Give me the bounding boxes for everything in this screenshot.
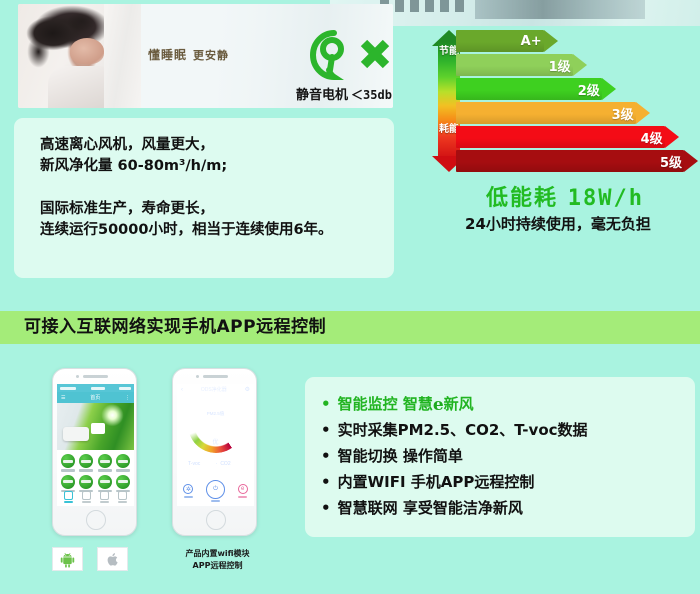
- spec-card: 高速离心风机，风量更大， 新风净化量 60-80m³/h/m; 国际标准生产，寿…: [14, 118, 394, 278]
- energy-efficiency-chart: 节能 耗能 A+1级2级3级4级5级: [420, 24, 698, 174]
- bullet-icon: •: [321, 495, 331, 521]
- phone1-device-grid[interactable]: [57, 450, 134, 492]
- grid-icon[interactable]: [82, 491, 91, 500]
- features-card: •智能监控 智慧e新风•实时采集PM2.5、CO2、T-voc数据•智能切换 操…: [305, 377, 695, 537]
- feature-item-1: •智能监控 智慧e新风: [321, 391, 695, 417]
- phone1-tab-monitor[interactable]: [100, 491, 109, 503]
- feature-text: 智能监控 智慧e新风: [338, 391, 474, 417]
- tab-label: [100, 501, 109, 503]
- bottom-label: [238, 496, 247, 498]
- bullet-icon: •: [321, 417, 331, 443]
- hero-slogan-main: 懂睡眠: [148, 46, 187, 63]
- dash-segment: [205, 455, 211, 457]
- device-tile-label: [79, 469, 93, 472]
- purifier-device-icon[interactable]: [79, 454, 93, 468]
- sleeping-child-photo: [18, 4, 141, 108]
- device-tile[interactable]: [60, 475, 76, 493]
- grade-bar-label: 3级: [612, 104, 644, 123]
- device-tile[interactable]: [97, 475, 113, 493]
- metric-value: 68%: [202, 461, 213, 467]
- energy-grade-bar: A+: [456, 30, 698, 52]
- gauge-value: 68: [188, 417, 244, 436]
- spec-line-3: 国际标准生产，寿命更长，: [40, 199, 394, 220]
- quiet-motor-label: 静音电机: [296, 84, 348, 103]
- battery-icon: [119, 387, 131, 390]
- more-vertical-icon[interactable]: ⋮: [125, 395, 130, 401]
- phone2-screen: ‹ ODS净化器 ⚙ PM2.5值 68 优 T-voc 68%·CO2 12%…: [177, 384, 254, 506]
- bullet-icon: •: [321, 391, 331, 417]
- bottom-eco[interactable]: e: [238, 484, 248, 497]
- chevron-left-icon[interactable]: ‹: [181, 387, 183, 393]
- phone-caption: 产品内置wifi模块 APP远程控制: [140, 548, 295, 572]
- eco-icon[interactable]: e: [238, 484, 248, 494]
- feature-item-5: •智慧联网 享受智能洁净新风: [321, 495, 695, 521]
- bottom-label: [184, 496, 193, 498]
- dash-segment: [213, 455, 219, 457]
- phone1-title: 首页: [90, 394, 100, 401]
- feature-item-3: •智能切换 操作简单: [321, 443, 695, 469]
- phone-mockup-detail: ‹ ODS净化器 ⚙ PM2.5值 68 优 T-voc 68%·CO2 12%…: [172, 368, 257, 536]
- metric-separator: ·: [216, 461, 218, 467]
- metric-co2: CO2 12%: [220, 461, 243, 467]
- device-tile[interactable]: [115, 475, 131, 493]
- app-control-banner-title: 可接入互联网络实现手机APP远程控制: [24, 311, 700, 344]
- hero-slogan-sub: 更安静: [193, 47, 229, 63]
- grade-bar-label: 5级: [660, 152, 692, 171]
- os-support-icons: [52, 547, 128, 571]
- device-tile[interactable]: [78, 454, 94, 472]
- device-tile-label: [61, 469, 75, 472]
- eco-e-glyph: e: [433, 392, 444, 418]
- phone1-tabbar[interactable]: [57, 491, 134, 504]
- purifier-device-icon[interactable]: [61, 475, 75, 489]
- person-icon[interactable]: [118, 491, 127, 500]
- feature-text: 智慧联网 享受智能洁净新风: [338, 495, 523, 521]
- phone-speaker: [203, 375, 228, 378]
- room-sofa-detail: [63, 427, 89, 441]
- phone2-bottom-bar[interactable]: ✲⏻e: [177, 476, 254, 506]
- hero-banner: 懂睡眠 更安静 静音电机 ＜35db: [18, 4, 393, 108]
- bottom-power[interactable]: ⏻: [206, 480, 225, 502]
- hamburger-icon[interactable]: ☰: [61, 395, 65, 401]
- grade-bar-body: [456, 150, 684, 172]
- phone2-title: ODS净化器: [201, 386, 227, 393]
- low-power-value: 18W/h: [568, 186, 644, 211]
- energy-grade-bars: A+1级2级3级4级5级: [456, 30, 698, 174]
- home-icon[interactable]: [64, 491, 73, 500]
- phone1-navbar[interactable]: ☰ 首页 ⋮: [57, 392, 134, 403]
- phone-home-button[interactable]: [86, 510, 106, 530]
- feature-text: 智能切换 操作简单: [338, 443, 463, 469]
- monitor-icon[interactable]: [100, 491, 109, 500]
- gauge-quality: 优: [188, 437, 244, 446]
- metric-value: 12%: [232, 461, 243, 467]
- room-purifier-detail: [91, 423, 105, 434]
- phone1-screen: ☰ 首页 ⋮: [57, 384, 134, 506]
- low-power-subtext: 24小时持续使用，毫无负担: [418, 213, 698, 234]
- gear-icon[interactable]: ⚙: [245, 386, 250, 393]
- grade-bar-body: [456, 102, 636, 124]
- phone-caption-line-2: APP远程控制: [140, 560, 295, 572]
- energy-grade-bar: 5级: [456, 150, 698, 172]
- photo-body-detail: [48, 66, 110, 108]
- bullet-icon: •: [321, 469, 331, 495]
- grade-bar-label: 1级: [549, 56, 581, 75]
- air-quality-gauge: PM2.5值 68 优: [188, 397, 244, 453]
- bottom-label: [211, 500, 220, 502]
- android-glyph: [59, 551, 76, 568]
- background-texture: [380, 0, 470, 12]
- purifier-device-icon[interactable]: [98, 454, 112, 468]
- fan-icon[interactable]: ✲: [183, 484, 193, 494]
- energy-grade-bar: 3级: [456, 102, 698, 124]
- phone-home-button[interactable]: [206, 510, 226, 530]
- phone1-tab-person[interactable]: [118, 491, 127, 503]
- ear-muted-icon: [296, 26, 393, 84]
- feature-text: 内置WIFI 手机APP远程控制: [338, 469, 535, 495]
- purifier-device-icon[interactable]: [116, 475, 130, 489]
- feature-item-4: •内置WIFI 手机APP远程控制: [321, 469, 695, 495]
- purifier-device-icon[interactable]: [79, 475, 93, 489]
- feature-item-2: •实时采集PM2.5、CO2、T-voc数据: [321, 417, 695, 443]
- apple-icon: [97, 547, 128, 571]
- bullet-icon: •: [321, 443, 331, 469]
- apple-glyph: [105, 551, 121, 568]
- gauge-dash-indicator: [177, 455, 254, 457]
- grade-bar-label: 4级: [641, 128, 673, 147]
- device-tile[interactable]: [97, 454, 113, 472]
- phone2-metrics-row: T-voc 68%·CO2 12%: [177, 461, 254, 467]
- energy-grade-bar: 4级: [456, 126, 698, 148]
- phone-speaker: [83, 375, 108, 378]
- phone-caption-line-1: 产品内置wifi模块: [140, 548, 295, 560]
- purifier-device-icon[interactable]: [61, 454, 75, 468]
- device-tile[interactable]: [60, 454, 76, 472]
- low-power-text: 低能耗: [486, 186, 558, 211]
- clock-label: [91, 387, 105, 390]
- quiet-motor-value: ＜35db: [351, 86, 392, 103]
- energy-grade-bar: 1级: [456, 54, 698, 76]
- phone1-tab-home[interactable]: [64, 491, 73, 503]
- phone1-statusbar: [57, 384, 134, 392]
- features-list: •智能监控 智慧e新风•实时采集PM2.5、CO2、T-voc数据•智能切换 操…: [321, 391, 695, 521]
- phone1-tab-grid[interactable]: [82, 491, 91, 503]
- phone2-navbar[interactable]: ‹ ODS净化器 ⚙: [177, 384, 254, 395]
- device-tile-label: [116, 469, 130, 472]
- phone-camera-icon: [76, 375, 79, 378]
- dash-segment: [221, 455, 227, 457]
- tab-label: [82, 501, 91, 503]
- phone-mockup-home: ☰ 首页 ⋮: [52, 368, 137, 536]
- phone1-hero-image: [57, 403, 134, 450]
- grade-bar-label: A+: [521, 34, 552, 49]
- spec-line-2: 新风净化量 60-80m³/h/m;: [40, 156, 394, 177]
- feature-text: 实时采集PM2.5、CO2、T-voc数据: [338, 417, 588, 443]
- grade-bar-body: [456, 126, 665, 148]
- device-tile-label: [98, 469, 112, 472]
- purifier-device-icon[interactable]: [98, 475, 112, 489]
- energy-grade-bar: 2级: [456, 78, 698, 100]
- hero-slogan: 懂睡眠 更安静: [148, 46, 229, 63]
- signal-icon: [60, 387, 76, 390]
- device-tile[interactable]: [78, 475, 94, 493]
- metric-name: T-voc: [188, 461, 200, 467]
- phone-camera-icon: [196, 375, 199, 378]
- tab-label: [64, 501, 73, 503]
- spec-line-1: 高速离心风机，风量更大，: [40, 135, 394, 156]
- app-control-banner: 可接入互联网络实现手机APP远程控制: [0, 311, 700, 344]
- tab-label: [118, 501, 127, 503]
- photo-pillow-detail: [104, 4, 141, 108]
- android-icon: [52, 547, 83, 571]
- photo-arm-detail: [70, 38, 104, 64]
- device-tile[interactable]: [115, 454, 131, 472]
- low-power-headline: 低能耗 18W/h: [432, 180, 698, 212]
- metric-name: CO2: [220, 461, 230, 467]
- quiet-motor-block: 静音电机 ＜35db: [296, 26, 393, 106]
- spec-line-4: 连续运行50000小时，相当于连续使用6年。: [40, 220, 394, 241]
- bottom-fan[interactable]: ✲: [183, 484, 193, 497]
- quiet-motor-label-row: 静音电机 ＜35db: [296, 84, 393, 103]
- power-icon[interactable]: ⏻: [206, 480, 225, 499]
- purifier-device-icon[interactable]: [116, 454, 130, 468]
- metric-tvoc: T-voc 68%: [188, 461, 213, 467]
- grade-bar-label: 2级: [578, 80, 610, 99]
